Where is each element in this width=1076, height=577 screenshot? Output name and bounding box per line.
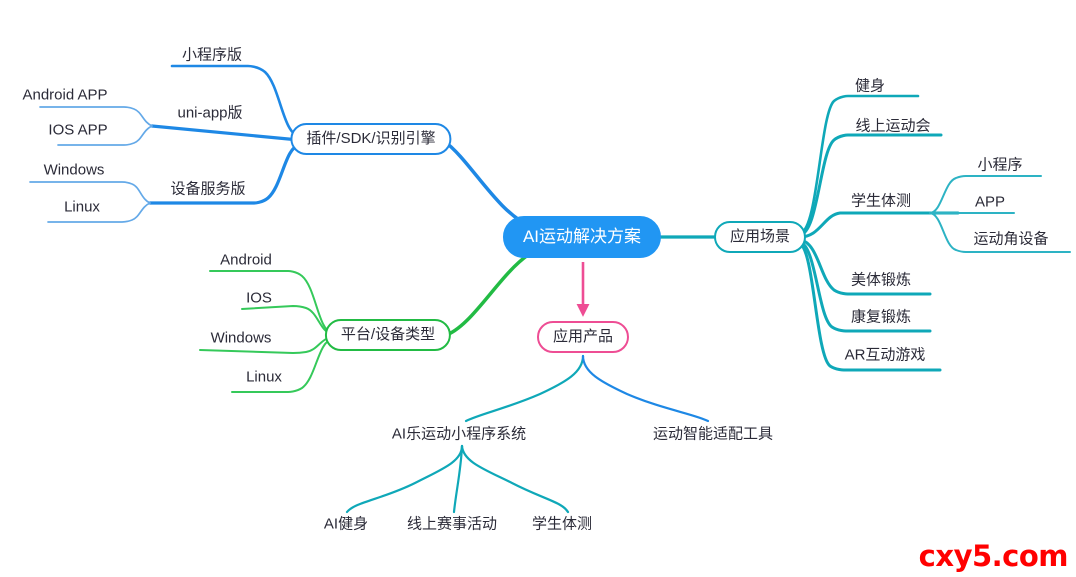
node-student-physical-test-product[interactable]: 学生体测 <box>532 517 592 532</box>
node-platform-windows[interactable]: Windows <box>211 331 272 346</box>
node-ai-sport-miniprogram-system[interactable]: AI乐运动小程序系统 <box>392 427 526 442</box>
connector-layer <box>0 0 1076 577</box>
watermark: cxy5.com <box>919 542 1068 571</box>
node-linux-device[interactable]: Linux <box>64 200 100 215</box>
node-device-service-edition[interactable]: 设备服务版 <box>170 182 245 197</box>
node-student-test-app[interactable]: APP <box>975 195 1005 210</box>
connector-product-to-mini-system <box>466 356 583 421</box>
connector-mini-system-to-student-test <box>462 446 568 512</box>
branch-node-plugin-sdk[interactable]: 插件/SDK/识别引擎 <box>290 123 451 155</box>
node-platform-android[interactable]: Android <box>220 253 272 268</box>
connector-plugin-to-miniprogram <box>172 66 299 136</box>
node-ios-app[interactable]: IOS APP <box>48 123 107 138</box>
node-scenario-online-sports-meet[interactable]: 线上运动会 <box>855 119 930 134</box>
connector-product-to-adaptation-tool <box>583 356 708 421</box>
node-ai-fitness[interactable]: AI健身 <box>324 517 368 532</box>
node-platform-linux[interactable]: Linux <box>246 370 282 385</box>
node-scenario-ar-interactive-game[interactable]: AR互动游戏 <box>845 348 926 363</box>
mindmap-canvas: AI运动解决方案 插件/SDK/识别引擎 平台/设备类型 应用产品 应用场景 小… <box>0 0 1076 577</box>
node-windows-device[interactable]: Windows <box>44 163 105 178</box>
connector-plugin-to-uniapp <box>152 126 299 140</box>
connector-group-application-product <box>347 262 708 512</box>
node-platform-ios[interactable]: IOS <box>246 291 272 306</box>
node-miniprogram-edition[interactable]: 小程序版 <box>182 48 242 63</box>
connector-center-to-plugin-sdk <box>444 141 530 226</box>
node-scenario-fitness[interactable]: 健身 <box>855 79 885 94</box>
node-scenario-body-shaping[interactable]: 美体锻炼 <box>851 273 911 288</box>
center-node[interactable]: AI运动解决方案 <box>503 216 661 258</box>
connector-center-to-platform-device <box>444 255 528 336</box>
node-sport-smart-adaptation-tool[interactable]: 运动智能适配工具 <box>653 427 773 442</box>
node-scenario-student-physical-test[interactable]: 学生体测 <box>851 194 911 209</box>
node-student-test-sport-corner-device[interactable]: 运动角设备 <box>973 232 1048 247</box>
branch-node-platform-device[interactable]: 平台/设备类型 <box>325 319 451 351</box>
node-online-competition-activity[interactable]: 线上赛事活动 <box>407 517 497 532</box>
node-android-app[interactable]: Android APP <box>22 88 107 103</box>
node-student-test-miniprogram[interactable]: 小程序 <box>977 158 1022 173</box>
connector-mini-system-to-ai-fitness <box>347 446 462 512</box>
branch-node-application-scenario[interactable]: 应用场景 <box>714 221 806 253</box>
node-uniapp-edition[interactable]: uni-app版 <box>177 106 242 121</box>
connector-scenario-to-student-test <box>800 213 958 237</box>
branch-node-application-product[interactable]: 应用产品 <box>537 321 629 353</box>
node-scenario-rehabilitation[interactable]: 康复锻炼 <box>851 310 911 325</box>
